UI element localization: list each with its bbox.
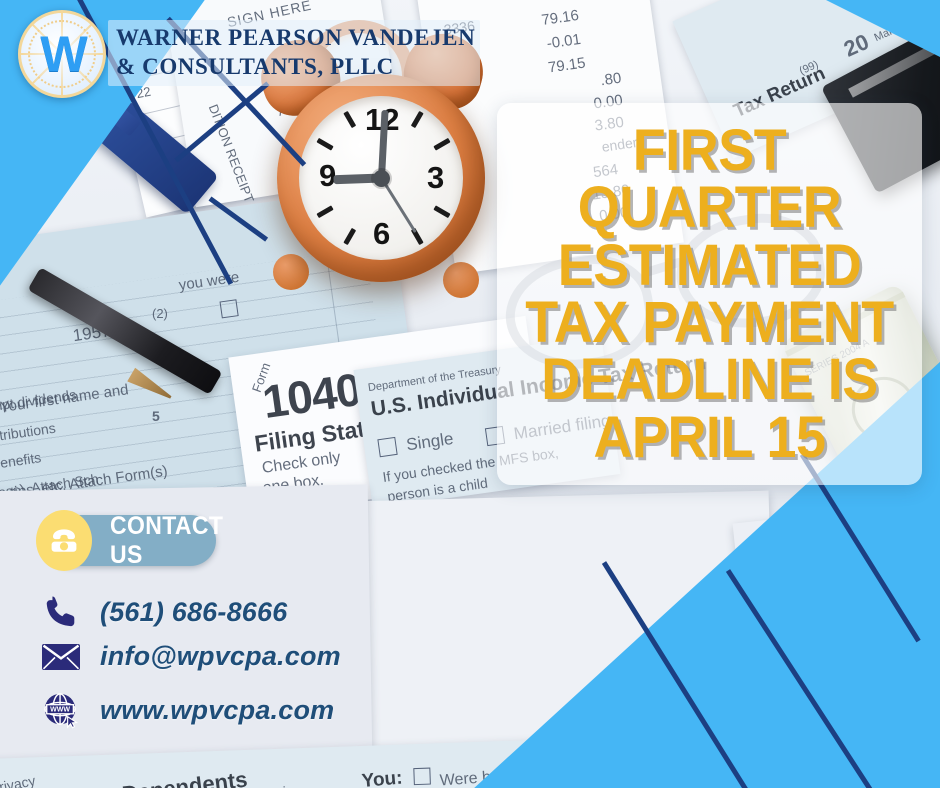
clock-foot-left xyxy=(273,254,309,290)
envelope-icon xyxy=(40,642,82,672)
year-partial-text: 20 xyxy=(840,29,873,63)
receipt-apply-text: DITION RECEIPT xyxy=(206,102,257,204)
svg-text:WWW: WWW xyxy=(50,707,70,714)
clock-tick xyxy=(411,111,424,128)
company-name-line1: WARNER PEARSON VANDEJEN xyxy=(116,23,476,53)
amount-text-1: 79.16 xyxy=(540,7,580,29)
phone-number-text: (561) 686-8666 xyxy=(100,597,287,628)
clock-tick xyxy=(343,228,356,245)
company-logo: W xyxy=(18,10,106,98)
headline-panel: FIRST QUARTER ESTIMATED TAX PAYMENT DEAD… xyxy=(497,103,922,485)
website-url-text: www.wpvcpa.com xyxy=(100,695,334,726)
contact-us-label: CONTACT US xyxy=(110,512,223,570)
you-label-text: You: xyxy=(361,768,404,788)
privacy-text: re, Privacy xyxy=(0,772,37,788)
clock-hub xyxy=(373,170,390,187)
born-checkbox xyxy=(413,768,431,786)
note-2-text: (2) xyxy=(152,306,168,321)
clock-foot-right xyxy=(443,262,479,298)
clock-tick xyxy=(316,138,333,151)
dependents-note-text: (see i xyxy=(251,783,287,788)
clock-tick xyxy=(316,205,333,218)
company-name-line2: & CONSULTANTS, PLLC xyxy=(116,52,476,82)
contact-row-website[interactable]: WWW www.wpvcpa.com xyxy=(40,691,334,729)
logo-monogram: W xyxy=(21,25,103,83)
single-checkbox xyxy=(377,437,397,457)
amount-text-2: -0.01 xyxy=(546,31,582,53)
clock-number-6: 6 xyxy=(373,216,390,252)
globe-www-icon: WWW xyxy=(40,691,82,729)
dependents-label-text: Dependents xyxy=(121,767,249,788)
clock-body: 12 3 6 9 xyxy=(277,74,485,282)
line-5-text: 5 xyxy=(152,408,160,424)
social-media-poster: 22 12:49 GOODS SIGN HERE DITION RECEIPT … xyxy=(0,0,940,788)
amount-text-3: 79.15 xyxy=(547,54,587,76)
form-checkbox-a xyxy=(220,299,239,318)
amount-text-4: .80 xyxy=(599,70,622,90)
contact-row-email[interactable]: info@wpvcpa.com xyxy=(40,641,341,672)
company-name-panel: WARNER PEARSON VANDEJEN & CONSULTANTS, P… xyxy=(108,20,480,86)
phone-handset-icon xyxy=(40,593,82,631)
clock-number-3: 3 xyxy=(427,160,444,196)
telephone-icon xyxy=(36,510,92,571)
clock-tick xyxy=(433,138,450,151)
clock-tick xyxy=(343,111,356,128)
contact-us-badge[interactable]: CONTACT US xyxy=(44,515,216,566)
clock-face: 12 3 6 9 xyxy=(299,96,463,260)
clock-tick xyxy=(433,205,450,218)
option-single-text: Single xyxy=(405,429,455,455)
email-address-text: info@wpvcpa.com xyxy=(100,641,341,672)
headline-text: FIRST QUARTER ESTIMATED TAX PAYMENT DEAD… xyxy=(512,122,907,466)
contact-row-phone[interactable]: (561) 686-8666 xyxy=(40,593,287,631)
